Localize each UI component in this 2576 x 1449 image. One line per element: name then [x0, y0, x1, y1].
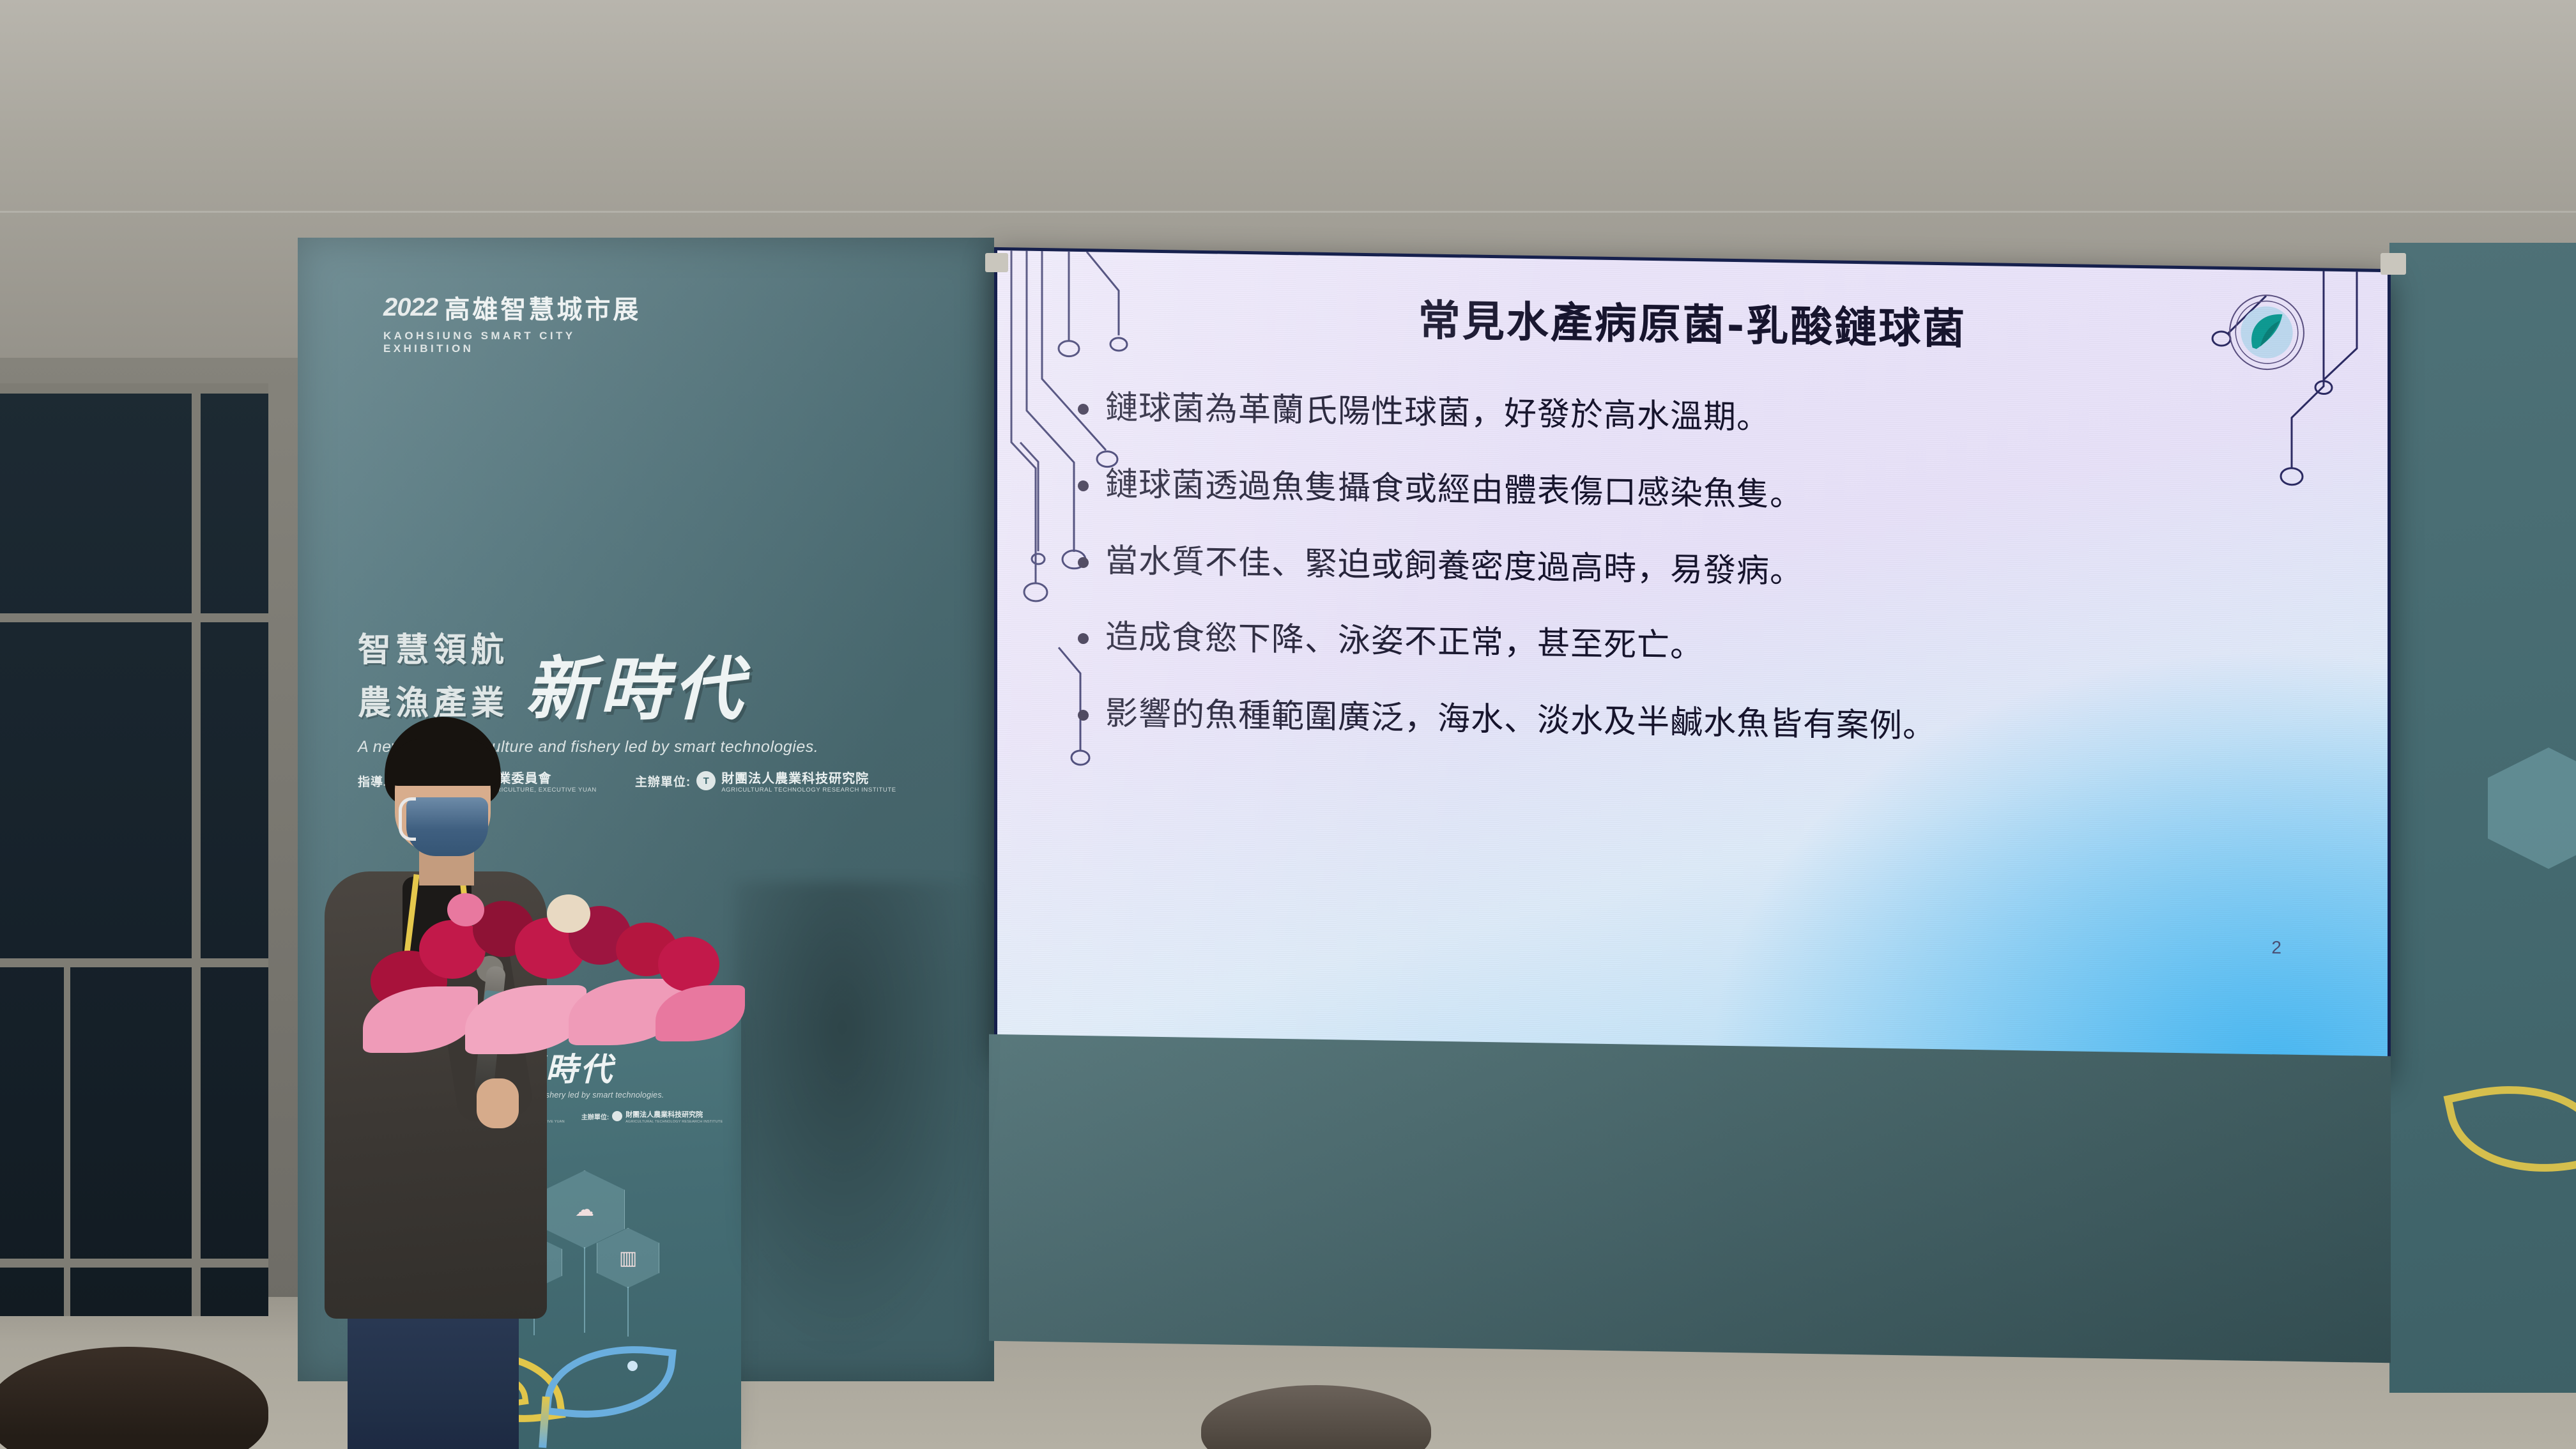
- list-item: 當水質不佳、緊迫或飼養密度過高時，易發病。: [1078, 540, 2343, 601]
- screen-base-panel: [989, 1034, 2391, 1363]
- atri-badge-icon: [612, 1111, 622, 1121]
- flower: [658, 937, 719, 992]
- screen-clamp: [2380, 253, 2406, 275]
- bullet-dot-icon: [1078, 556, 1089, 567]
- event-name-zh: 高雄智慧城市展: [444, 289, 641, 326]
- bullet-text: 影響的魚種範圍廣泛，海水、淡水及半鹹水魚皆有案例。: [1105, 694, 1936, 747]
- bullet-text: 當水質不佳、緊迫或飼養密度過高時，易發病。: [1105, 540, 1803, 592]
- atri-badge-icon: T: [696, 771, 716, 790]
- organizer-host: 主辦單位: T 財團法人農業科技研究院 AGRICULTURAL TECHNOL…: [635, 768, 896, 793]
- agricultural-technology-research-institute-logo: [2228, 293, 2306, 372]
- host-name-en: AGRICULTURAL TECHNOLOGY RESEARCH INSTITU…: [721, 786, 896, 793]
- host-role-label: 主辦單位:: [635, 772, 691, 790]
- bullet-dot-icon: [1078, 480, 1089, 491]
- slide-title: 常見水產病原菌-乳酸鏈球菌: [997, 280, 2388, 363]
- bullet-dot-icon: [1078, 404, 1089, 415]
- slide-page-number: 2: [2271, 937, 2281, 958]
- mullion-horizontal: [0, 613, 268, 622]
- wall-seam: [0, 211, 2576, 213]
- podium-flower-arrangement: [358, 889, 773, 1062]
- leaf-decor-icon: [2444, 1065, 2576, 1192]
- mask-strap: [399, 797, 416, 841]
- face-mask: [406, 797, 488, 856]
- icon-stem: [627, 1287, 629, 1337]
- stage-scene: 2022 高雄智慧城市展 KAOHSIUNG SMART CITY EXHIBI…: [0, 0, 2576, 1449]
- mullion-vertical: [64, 958, 70, 1316]
- event-year: 2022: [383, 293, 438, 322]
- list-item: 鏈球菌透過魚隻攝食或經由體表傷口感染魚隻。: [1078, 464, 2343, 525]
- host-name-zh: 財團法人農業科技研究院: [721, 768, 896, 786]
- slogan-highlight: 新時代: [525, 655, 747, 724]
- window-grid: [0, 383, 268, 1316]
- podium-organizer-host: 主辦單位: 財團法人農業科技研究院 AGRICULTURAL TECHNOLOG…: [581, 1108, 723, 1124]
- mullion-horizontal: [0, 1259, 268, 1268]
- podium-host-name-zh: 財團法人農業科技研究院: [625, 1111, 703, 1119]
- slogan-line-1: 智慧領航: [358, 623, 509, 671]
- backdrop-panel-right: [2389, 243, 2576, 1393]
- presentation-slide: 常見水產病原菌-乳酸鏈球菌 鏈球菌為革蘭氏陽性球菌，好發於高水溫期。 鏈球菌透過…: [997, 250, 2388, 1071]
- bullet-text: 鏈球菌為革蘭氏陽性球菌，好發於高水溫期。: [1105, 388, 1770, 439]
- speaker-hand: [477, 1078, 519, 1128]
- list-item: 影響的魚種範圍廣泛，海水、淡水及半鹹水魚皆有案例。: [1078, 693, 2343, 754]
- speaker-hair-front: [387, 739, 500, 786]
- podium-host-name-en: AGRICULTURAL TECHNOLOGY RESEARCH INSTITU…: [625, 1120, 723, 1124]
- speaker-shadow: [735, 882, 1003, 1367]
- speaker-legs: [348, 1298, 519, 1449]
- bullet-text: 造成食慾下降、泳姿不正常，甚至死亡。: [1105, 617, 1703, 667]
- flower-light: [447, 893, 484, 926]
- event-logo-block: 2022 高雄智慧城市展 KAOHSIUNG SMART CITY EXHIBI…: [383, 289, 658, 355]
- screen-clamp: [985, 253, 1008, 272]
- mullion-vertical: [192, 383, 201, 1316]
- bullet-dot-icon: [1078, 633, 1089, 644]
- speaker-figure: [294, 717, 562, 1449]
- fish-eye-icon: [627, 1361, 638, 1371]
- slide-bullet-list: 鏈球菌為革蘭氏陽性球菌，好發於高水溫期。 鏈球菌透過魚隻攝食或經由體表傷口感染魚…: [1078, 387, 2343, 790]
- list-item: 鏈球菌為革蘭氏陽性球菌，好發於高水溫期。: [1078, 387, 2343, 448]
- bullet-text: 鏈球菌透過魚隻攝食或經由體表傷口感染魚隻。: [1105, 464, 1803, 516]
- mullion-horizontal: [0, 383, 268, 394]
- flower-light: [547, 894, 590, 933]
- list-item: 造成食慾下降、泳姿不正常，甚至死亡。: [1078, 617, 2343, 677]
- projection-screen: 常見水產病原菌-乳酸鏈球菌 鏈球菌為革蘭氏陽性球菌，好發於高水溫期。 鏈球菌透過…: [994, 247, 2391, 1074]
- podium-host-role-label: 主辦單位:: [581, 1112, 609, 1121]
- event-name-en: KAOHSIUNG SMART CITY EXHIBITION: [383, 330, 658, 355]
- hexagon-decor-icon: [2488, 747, 2576, 869]
- icon-stem: [584, 1247, 585, 1333]
- mullion-horizontal: [0, 958, 268, 967]
- bullet-dot-icon: [1078, 710, 1089, 721]
